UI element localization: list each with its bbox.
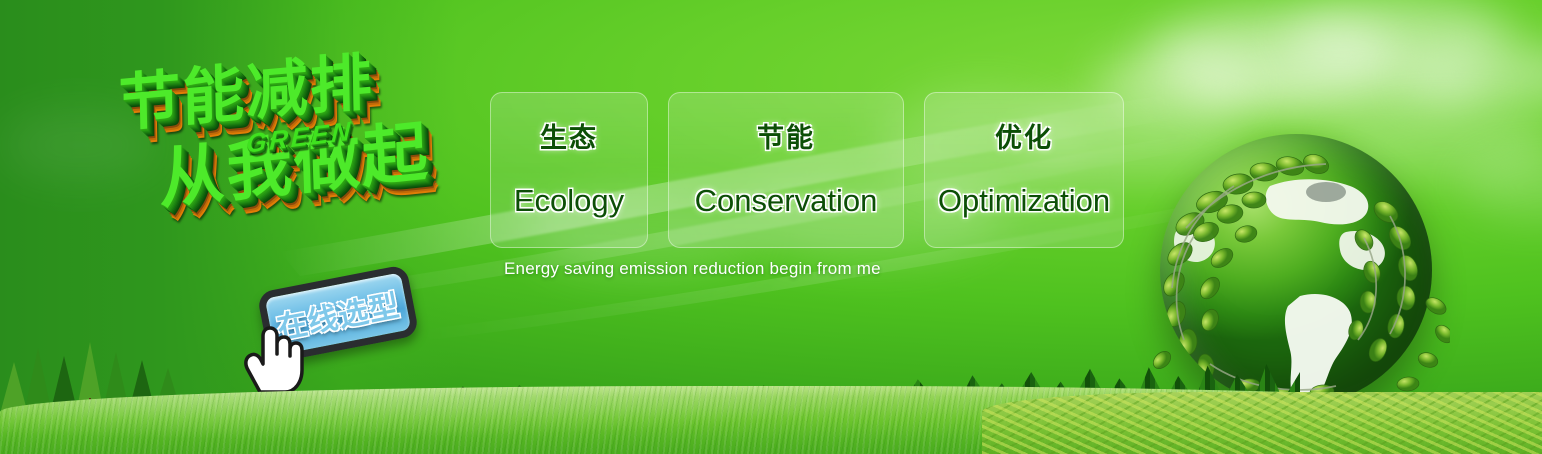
headline-art: 节能减排 从我做起 GREEN (96, 34, 488, 274)
hand-pointer-icon (238, 316, 308, 394)
banner-tagline: Energy saving emission reduction begin f… (504, 259, 881, 279)
feature-card-conservation[interactable]: 节能 Conservation (668, 92, 904, 248)
feature-card-list: 生态 Ecology 节能 Conservation 优化 Optimizati… (490, 92, 1124, 248)
feature-card-title-en: Optimization (938, 183, 1110, 219)
feature-card-title-en: Conservation (695, 183, 878, 219)
feature-card-title-cn: 节能 (757, 116, 815, 155)
feature-card-title-en: Ecology (514, 183, 624, 219)
feature-card-title-cn: 优化 (995, 116, 1053, 155)
green-energy-banner: 节能减排 从我做起 GREEN 在线选型 生态 Ecology 节能 Conse… (0, 0, 1542, 454)
feature-card-optimization[interactable]: 优化 Optimization (924, 92, 1124, 248)
leaf-litter-icon (982, 392, 1542, 454)
feature-card-ecology[interactable]: 生态 Ecology (490, 92, 648, 248)
feature-card-title-cn: 生态 (540, 116, 598, 155)
